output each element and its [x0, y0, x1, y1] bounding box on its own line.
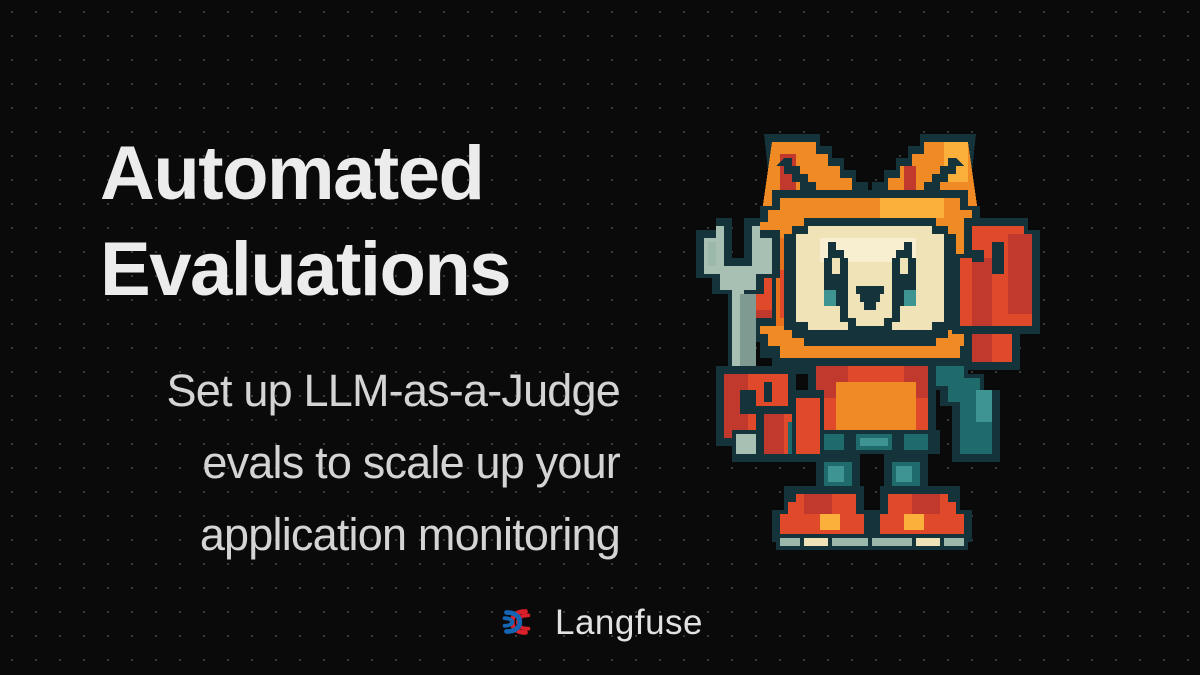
langfuse-logo-icon — [497, 603, 535, 641]
text-column: Automated Evaluations Set up LLM-as-a-Ju… — [0, 0, 640, 675]
page-subtitle: Set up LLM-as-a-Judge evals to scale up … — [20, 355, 620, 571]
brand-lockup: Langfuse — [0, 603, 1200, 641]
langfuse-pixel-fox-mascot — [672, 118, 1068, 558]
page-title: Automated Evaluations — [100, 126, 640, 318]
banner-canvas: Automated Evaluations Set up LLM-as-a-Ju… — [0, 0, 1200, 675]
mascot-legs-and-boots — [772, 454, 972, 550]
mascot-torso — [804, 358, 940, 454]
brand-wordmark: Langfuse — [555, 605, 703, 640]
